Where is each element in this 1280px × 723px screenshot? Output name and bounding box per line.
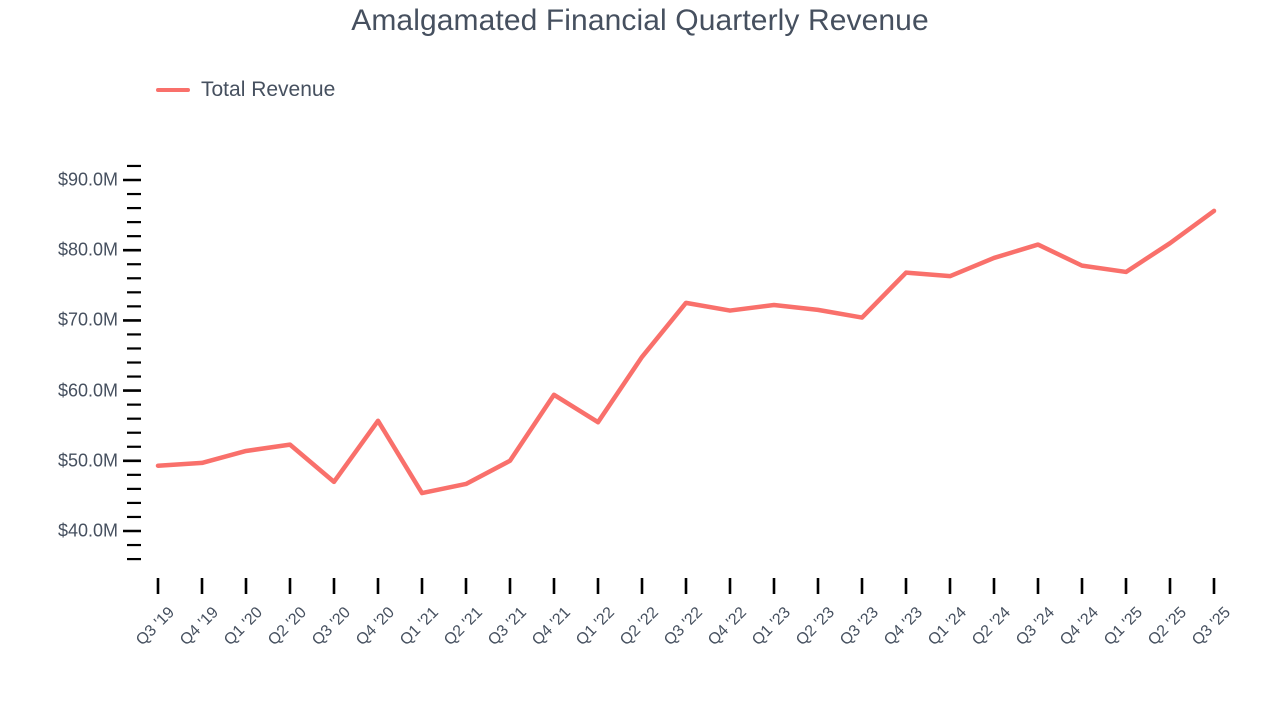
y-axis-ticks <box>123 166 141 559</box>
y-axis-tick-label: $70.0M <box>8 310 118 331</box>
y-axis-tick-label: $80.0M <box>8 240 118 261</box>
series-line-total-revenue <box>158 211 1214 493</box>
y-axis-tick-label: $40.0M <box>8 521 118 542</box>
chart-container: Amalgamated Financial Quarterly Revenue … <box>0 0 1280 720</box>
y-axis-tick-label: $90.0M <box>8 170 118 191</box>
y-axis-tick-label: $50.0M <box>8 450 118 471</box>
x-axis-ticks <box>158 578 1214 594</box>
y-axis-tick-label: $60.0M <box>8 380 118 401</box>
